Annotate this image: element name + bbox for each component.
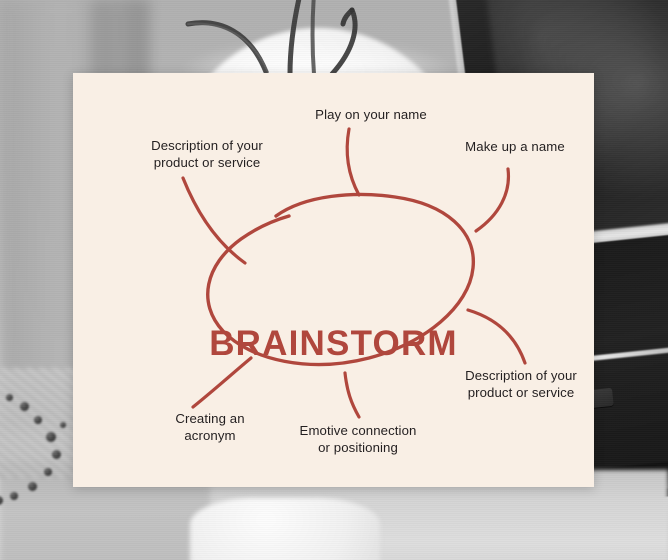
label-play-on-your-name: Play on your name — [281, 107, 461, 124]
label-emotive-connection: Emotive connection or positioning — [263, 423, 453, 456]
connector-play-on-your-name — [347, 129, 359, 195]
label-creating-an-acronym: Creating an acronym — [135, 411, 285, 444]
background-plant-leaves — [180, 0, 450, 74]
connector-description-top-left — [183, 178, 245, 263]
label-description-top-left: Description of your product or service — [117, 138, 297, 171]
poster-canvas: BRAINSTORM Play on your name Description… — [0, 0, 668, 560]
connector-creating-an-acronym — [193, 358, 251, 407]
connector-make-up-a-name — [476, 169, 508, 231]
brainstorm-card: BRAINSTORM Play on your name Description… — [73, 73, 594, 487]
connector-emotive-connection — [345, 373, 359, 417]
background-mug — [190, 498, 380, 560]
label-make-up-a-name: Make up a name — [431, 139, 599, 156]
center-label-brainstorm: BRAINSTORM — [73, 324, 594, 364]
label-description-bottom-right: Description of your product or service — [431, 368, 611, 401]
